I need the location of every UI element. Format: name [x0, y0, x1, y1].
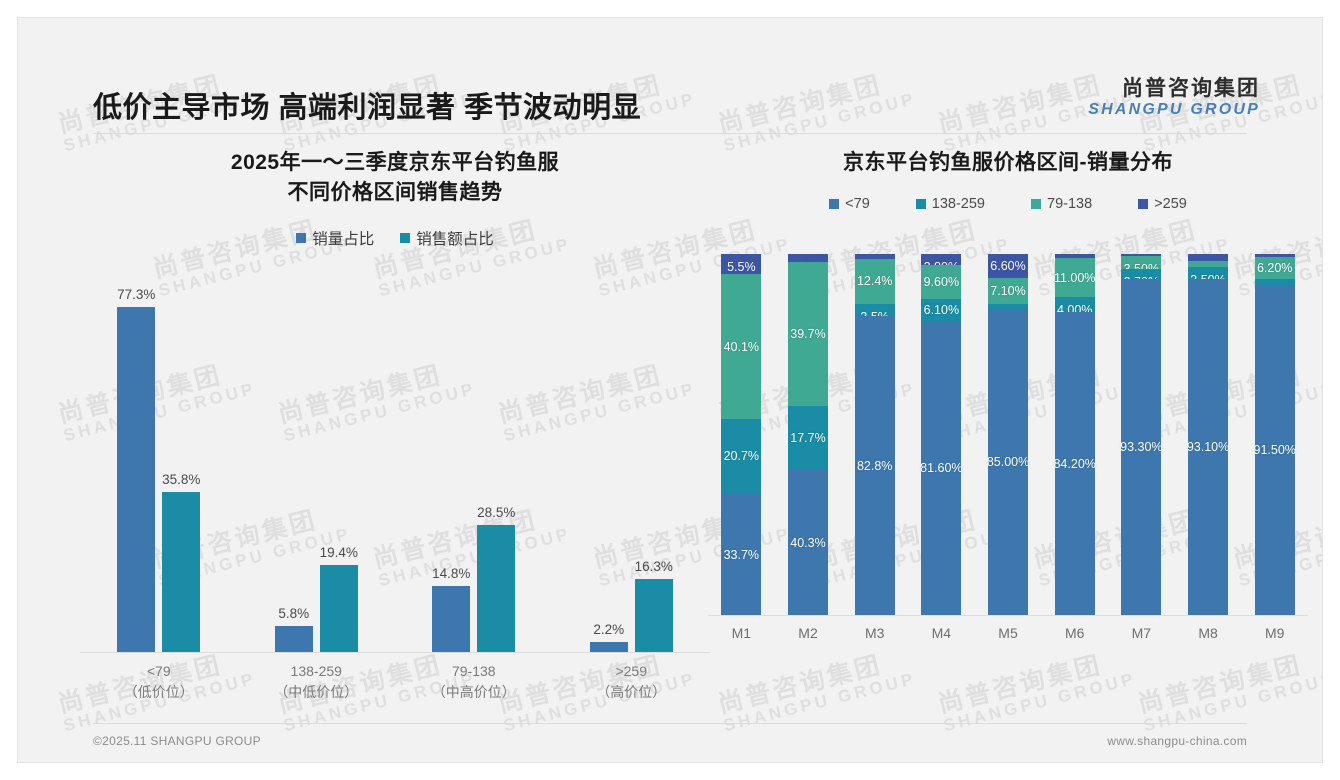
stack-segment-label: 93.10%: [1187, 440, 1229, 454]
legend-label: 79-138: [1047, 196, 1092, 212]
stacked-bar: 6.60%7.10%1.30%85.00%: [988, 254, 1028, 615]
x-axis-line-right: [708, 615, 1308, 616]
chart-legend-left: 销量占比 销售额占比: [80, 227, 710, 249]
stack-segment: 20.7%: [721, 419, 761, 494]
bar-group-container: 77.3%35.8%5.8%19.4%14.8%28.5%2.2%16.3%: [80, 273, 710, 652]
stack-segment: 6.10%: [921, 299, 961, 321]
stack-segment-label: 6.60%: [990, 259, 1025, 273]
stack-segment-label: 85.00%: [987, 455, 1029, 469]
legend-item-79-138[interactable]: 79-138: [1031, 196, 1092, 212]
x-axis-line-left: [80, 652, 710, 653]
bar-revenue-share[interactable]: 28.5%: [477, 273, 515, 652]
chart-title-right-line1: 京东平台钓鱼服价格区间-销量分布: [708, 148, 1308, 178]
x-tick-label: M8: [1175, 625, 1242, 641]
stack-segment: 84.20%: [1055, 312, 1095, 616]
bar-volume-share[interactable]: 5.8%: [275, 273, 313, 652]
stack-segment: 85.00%: [988, 309, 1028, 616]
bar-value-label: 19.4%: [320, 545, 358, 560]
stack-segment: 91.50%: [1255, 285, 1295, 615]
stack-segment: 3.50%: [1121, 256, 1161, 269]
stacked-bar: 1.2%12.4%3.5%82.8%: [855, 254, 895, 615]
x-tick-label: M3: [841, 625, 908, 641]
bar-volume-share[interactable]: 77.3%: [117, 273, 155, 652]
stacked-bar: 0.90%11.00%4.00%84.20%: [1055, 254, 1095, 615]
legend-item-138-259[interactable]: 138-259: [916, 196, 985, 212]
chart-title-left-line2: 不同价格区间销售趋势: [80, 178, 710, 208]
x-tick-label: <79（低价位）: [80, 661, 238, 703]
plot-area-left: 77.3%35.8%5.8%19.4%14.8%28.5%2.2%16.3%: [80, 273, 710, 653]
bar-rect: [432, 586, 470, 652]
bar-revenue-share[interactable]: 16.3%: [635, 273, 673, 652]
stacked-bar: 5.5%40.1%20.7%33.7%: [721, 254, 761, 615]
header-divider: [93, 133, 1247, 134]
bar-value-label: 16.3%: [635, 559, 673, 574]
stack-segment: 93.30%: [1121, 279, 1161, 616]
x-tick-label: M6: [1041, 625, 1108, 641]
stack-segment-label: 6.20%: [1257, 261, 1292, 275]
stacked-bar-column[interactable]: 1.2%12.4%3.5%82.8%: [841, 254, 908, 615]
chart-title-left-line1: 2025年一～三季度京东平台钓鱼服: [80, 148, 710, 178]
stack-segment-label: 82.8%: [857, 459, 892, 473]
stack-segment-label: 6.10%: [924, 303, 959, 317]
logo-text-cn: 尚普咨询集团: [1088, 78, 1260, 101]
stack-segment: 7.10%: [988, 278, 1028, 304]
footer-website[interactable]: www.shangpu-china.com: [1107, 734, 1247, 748]
stacked-bar-container: 5.5%40.1%20.7%33.7%2.2%39.7%17.7%40.3%1.…: [708, 254, 1308, 615]
stack-segment: 40.1%: [721, 274, 761, 419]
legend-swatch: [916, 199, 926, 209]
x-tick-label: 138-259（中低价位）: [238, 661, 396, 703]
chart-panel-sales-trend: 2025年一～三季度京东平台钓鱼服 不同价格区间销售趋势 销量占比 销售额占比 …: [80, 148, 710, 708]
stack-segment: 33.7%: [721, 494, 761, 616]
stacked-bar-column[interactable]: 5.5%40.1%20.7%33.7%: [708, 254, 775, 615]
page-title: 低价主导市场 高端利润显著 季节波动明显: [93, 84, 641, 126]
bar-value-label: 2.2%: [593, 622, 624, 637]
legend-label: >259: [1154, 196, 1187, 212]
x-tick-label: M9: [1241, 625, 1308, 641]
stack-segment: 39.7%: [788, 262, 828, 405]
stack-segment: 2.80%: [921, 254, 961, 264]
stack-segment: 6.20%: [1255, 257, 1295, 279]
stacked-bar: 0.70%6.20%1.60%91.50%: [1255, 254, 1295, 615]
stack-segment: 9.60%: [921, 265, 961, 300]
stack-segment: 11.00%: [1055, 258, 1095, 298]
stack-segment: 2.2%: [788, 254, 828, 262]
x-tick-label: M2: [775, 625, 842, 641]
stack-segment-label: 93.30%: [1120, 440, 1162, 454]
footer-divider: [93, 723, 1247, 724]
plot-area-right: 5.5%40.1%20.7%33.7%2.2%39.7%17.7%40.3%1.…: [708, 254, 1308, 616]
stacked-bar: 1.70%1.70%3.50%93.10%: [1188, 254, 1228, 615]
legend-label: 138-259: [932, 196, 985, 212]
legend-swatch: [1031, 199, 1041, 209]
stack-segment: 2.70%: [1121, 269, 1161, 279]
x-tick-label: >259（高价位）: [553, 661, 711, 703]
stack-segment-label: 40.1%: [724, 340, 759, 354]
legend-label-revenue-share: 销售额占比: [416, 227, 494, 249]
stacked-bar: 2.80%9.60%6.10%81.60%: [921, 254, 961, 615]
stacked-bar-column[interactable]: 2.80%9.60%6.10%81.60%: [908, 254, 975, 615]
stack-segment: 17.7%: [788, 406, 828, 470]
bar-rect: [477, 525, 515, 652]
bar-group: 5.8%19.4%: [238, 273, 396, 652]
stacked-bar-column[interactable]: 1.70%1.70%3.50%93.10%: [1175, 254, 1242, 615]
stack-segment-label: 84.20%: [1053, 457, 1095, 471]
bar-group: 14.8%28.5%: [395, 273, 553, 652]
stack-segment: 4.00%: [1055, 297, 1095, 311]
legend-item-259[interactable]: >259: [1138, 196, 1187, 212]
legend-swatch-volume-share: [296, 233, 306, 243]
stack-segment: 82.8%: [855, 316, 895, 615]
bar-rect: [117, 307, 155, 652]
stack-segment: 6.60%: [988, 254, 1028, 278]
stack-segment-label: 91.50%: [1254, 443, 1296, 457]
bar-revenue-share[interactable]: 35.8%: [162, 273, 200, 652]
stack-segment: 93.10%: [1188, 279, 1228, 615]
legend-item-revenue-share[interactable]: 销售额占比: [400, 227, 494, 249]
stacked-bar-column[interactable]: 0.70%6.20%1.60%91.50%: [1241, 254, 1308, 615]
legend-item-79[interactable]: <79: [829, 196, 870, 212]
bar-value-label: 77.3%: [117, 287, 155, 302]
bar-group: 77.3%35.8%: [80, 273, 238, 652]
stacked-bar-column[interactable]: 0.90%11.00%4.00%84.20%: [1041, 254, 1108, 615]
stack-segment-label: 20.7%: [724, 449, 759, 463]
stack-segment-label: 33.7%: [724, 548, 759, 562]
x-tick-label: M7: [1108, 625, 1175, 641]
stacked-bar-column[interactable]: 0.50%3.50%2.70%93.30%: [1108, 254, 1175, 615]
footer-copyright: ©2025.11 SHANGPU GROUP: [93, 734, 261, 748]
x-axis-labels-left: <79（低价位）138-259（中低价位）79-138（中高价位）>259（高价…: [80, 661, 710, 703]
bar-value-label: 35.8%: [162, 472, 200, 487]
slide-header: 低价主导市场 高端利润显著 季节波动明显 尚普咨询集团 SHANGPU GROU…: [18, 18, 1322, 118]
stack-segment-label: 39.7%: [790, 327, 825, 341]
stacked-bar: 0.50%3.50%2.70%93.30%: [1121, 254, 1161, 615]
stack-segment: 40.3%: [788, 470, 828, 616]
bar-rect: [162, 492, 200, 652]
stacked-bar-column[interactable]: 6.60%7.10%1.30%85.00%: [975, 254, 1042, 615]
legend-swatch-revenue-share: [400, 233, 410, 243]
brand-logo: 尚普咨询集团 SHANGPU GROUP: [1088, 78, 1260, 118]
bar-group: 2.2%16.3%: [553, 273, 711, 652]
stack-segment-label: 5.5%: [727, 260, 756, 274]
bar-value-label: 5.8%: [278, 606, 309, 621]
stack-segment: 12.4%: [855, 259, 895, 304]
stack-segment: 3.50%: [1188, 267, 1228, 280]
stack-segment-label: 7.10%: [990, 284, 1025, 298]
x-axis-labels-right: M1M2M3M4M5M6M7M8M9: [708, 625, 1308, 641]
legend-swatch: [829, 199, 839, 209]
stack-segment-label: 17.7%: [790, 431, 825, 445]
legend-label-volume-share: 销量占比: [312, 227, 374, 249]
bar-rect: [635, 579, 673, 652]
bar-rect: [590, 642, 628, 652]
logo-text-en: SHANGPU GROUP: [1088, 101, 1260, 118]
bar-volume-share[interactable]: 2.2%: [590, 273, 628, 652]
stack-segment-label: 40.3%: [790, 536, 825, 550]
bar-value-label: 28.5%: [477, 505, 515, 520]
bar-rect: [275, 626, 313, 652]
stack-segment-label: 9.60%: [924, 275, 959, 289]
slide-canvas: 尚普咨询集团SHANGPU GROUP尚普咨询集团SHANGPU GROUP尚普…: [18, 18, 1322, 762]
stack-segment: 81.60%: [921, 321, 961, 615]
x-tick-label: M4: [908, 625, 975, 641]
bar-volume-share[interactable]: 14.8%: [432, 273, 470, 652]
legend-label: <79: [845, 196, 870, 212]
stacked-bar-column[interactable]: 2.2%39.7%17.7%40.3%: [775, 254, 842, 615]
legend-item-volume-share[interactable]: 销量占比: [296, 227, 374, 249]
stack-segment-label: 12.4%: [857, 274, 892, 288]
x-tick-label: M5: [975, 625, 1042, 641]
stack-segment: 3.5%: [855, 304, 895, 317]
chart-legend-right: <79138-25979-138>259: [708, 196, 1308, 212]
stacked-bar: 2.2%39.7%17.7%40.3%: [788, 254, 828, 615]
x-tick-label: M1: [708, 625, 775, 641]
x-tick-label: 79-138（中高价位）: [395, 661, 553, 703]
stack-segment: 5.5%: [721, 254, 761, 274]
chart-title-left: 2025年一～三季度京东平台钓鱼服 不同价格区间销售趋势: [80, 148, 710, 209]
bar-value-label: 14.8%: [432, 566, 470, 581]
bar-rect: [320, 565, 358, 652]
chart-panel-volume-distribution: 京东平台钓鱼服价格区间-销量分布 <79138-25979-138>259 5.…: [708, 148, 1308, 708]
legend-swatch: [1138, 199, 1148, 209]
bar-revenue-share[interactable]: 19.4%: [320, 273, 358, 652]
stack-segment-label: 11.00%: [1054, 271, 1095, 285]
stack-segment-label: 81.60%: [920, 461, 962, 475]
chart-title-right: 京东平台钓鱼服价格区间-销量分布: [708, 148, 1308, 178]
